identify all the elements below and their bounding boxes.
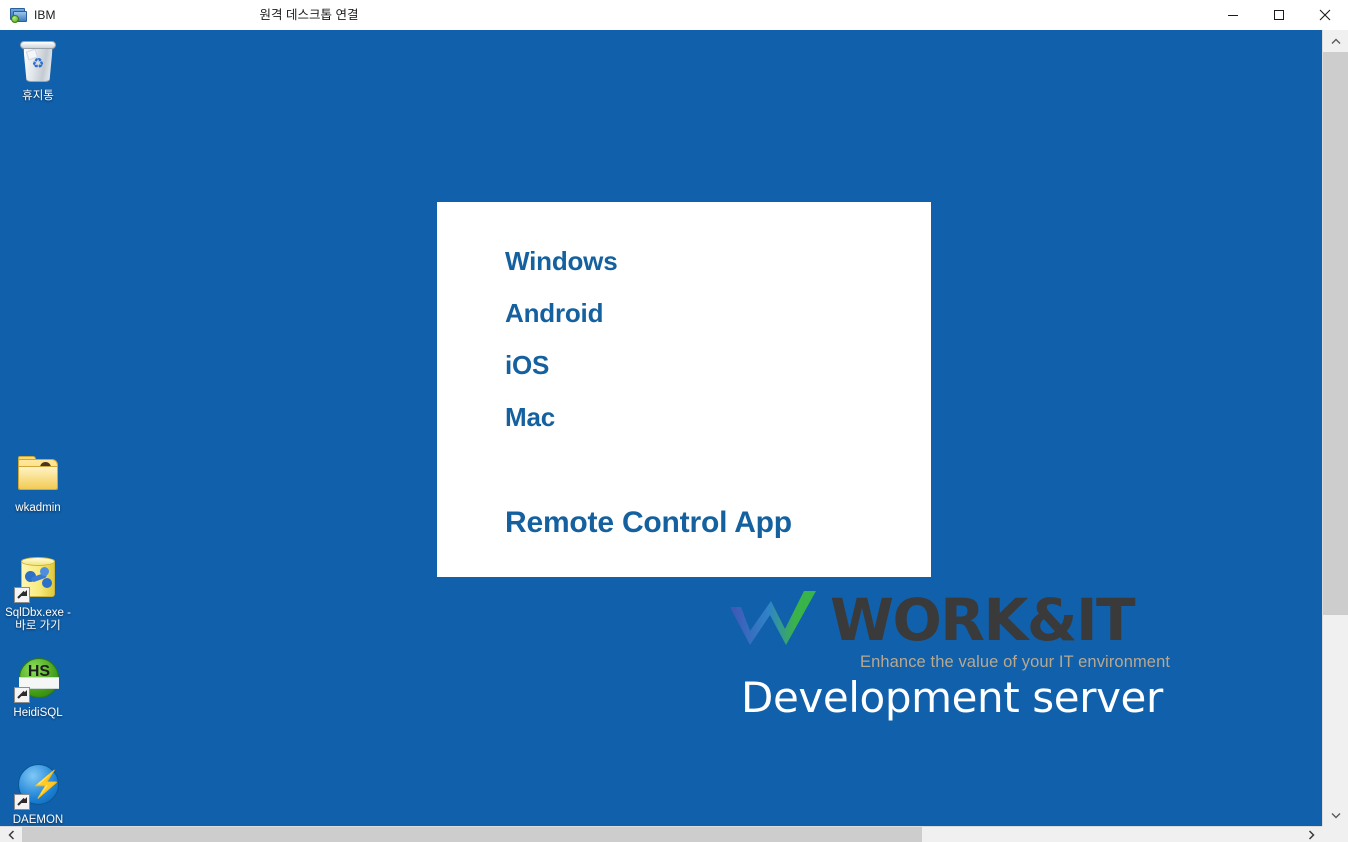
remote-desktop-surface[interactable]: ♻ 휴지통 wkadmin Sq [0, 30, 1322, 826]
platform-panel: Windows Android iOS Mac Remote Control A… [437, 202, 931, 577]
desktop-icon-sqldbx[interactable]: SqlDbx.exe - 바로 가기 [0, 555, 76, 633]
scroll-left-button[interactable] [0, 827, 22, 842]
shortcut-overlay-icon [14, 687, 30, 703]
chevron-right-icon [1308, 830, 1315, 840]
brand-tagline: Enhance the value of your IT environment [860, 653, 1170, 672]
app-identity: IBM [9, 5, 56, 25]
brand-name: WORK&IT [830, 587, 1134, 653]
scrollbar-corner [1322, 826, 1348, 842]
recycle-bin-icon: ♻ [14, 38, 62, 86]
remote-desktop-window: IBM 원격 데스크톱 연결 [0, 0, 1348, 842]
desktop-icon-label: HeidiSQL [0, 707, 76, 720]
desktop-icon-label: 휴지통 [0, 90, 76, 103]
brand-subtitle: Development server [741, 673, 1163, 722]
chevron-left-icon [8, 830, 15, 840]
shortcut-overlay-icon [14, 587, 30, 603]
maximize-icon [1273, 9, 1285, 21]
chevron-down-icon [1331, 812, 1341, 819]
desktop-icon-label: DAEMON Tools Lite [0, 814, 76, 826]
remote-desktop-icon [9, 6, 27, 24]
vertical-scroll-track[interactable] [1323, 52, 1348, 804]
desktop-icon-daemon-tools[interactable]: ⚡ DAEMON Tools Lite [0, 762, 76, 826]
maximize-button[interactable] [1256, 0, 1302, 30]
user-folder-icon [14, 450, 62, 498]
platform-link-ios[interactable]: iOS [505, 339, 931, 391]
desktop-icon-recycle-bin[interactable]: ♻ 휴지통 [0, 38, 76, 103]
title-bar: IBM 원격 데스크톱 연결 [0, 0, 1348, 31]
close-button[interactable] [1302, 0, 1348, 30]
desktop-icon-label: wkadmin [0, 502, 76, 515]
platform-link-mac[interactable]: Mac [505, 391, 931, 443]
horizontal-scroll-track[interactable] [22, 827, 1300, 842]
horizontal-scrollbar[interactable] [0, 826, 1348, 842]
window-title: 원격 데스크톱 연결 [0, 0, 1348, 30]
daemon-tools-icon: ⚡ [14, 762, 62, 810]
desktop-icon-heidisql[interactable]: HS HeidiSQL [0, 655, 76, 720]
platform-link-android[interactable]: Android [505, 287, 931, 339]
scroll-right-button[interactable] [1300, 827, 1322, 842]
platform-link-windows[interactable]: Windows [505, 235, 931, 287]
close-icon [1319, 9, 1331, 21]
workit-branding: WORK&IT Enhance the value of your IT env… [728, 585, 1178, 730]
desktop-icon-wkadmin[interactable]: wkadmin [0, 450, 76, 515]
vertical-scrollbar[interactable] [1322, 30, 1348, 826]
minimize-icon [1227, 9, 1239, 21]
scroll-up-button[interactable] [1323, 30, 1348, 52]
scroll-down-button[interactable] [1323, 804, 1348, 826]
desktop-icon-label: SqlDbx.exe - 바로 가기 [0, 607, 76, 633]
horizontal-scroll-thumb[interactable] [22, 827, 922, 842]
window-controls [1210, 0, 1348, 30]
heidisql-icon: HS [14, 655, 62, 703]
chevron-up-icon [1331, 38, 1341, 45]
app-name: IBM [34, 8, 56, 22]
workit-w-logo [728, 589, 838, 655]
minimize-button[interactable] [1210, 0, 1256, 30]
remote-control-app-link[interactable]: Remote Control App [505, 497, 931, 549]
shortcut-overlay-icon [14, 794, 30, 810]
sqldbx-icon [14, 555, 62, 603]
vertical-scroll-thumb[interactable] [1323, 52, 1348, 615]
